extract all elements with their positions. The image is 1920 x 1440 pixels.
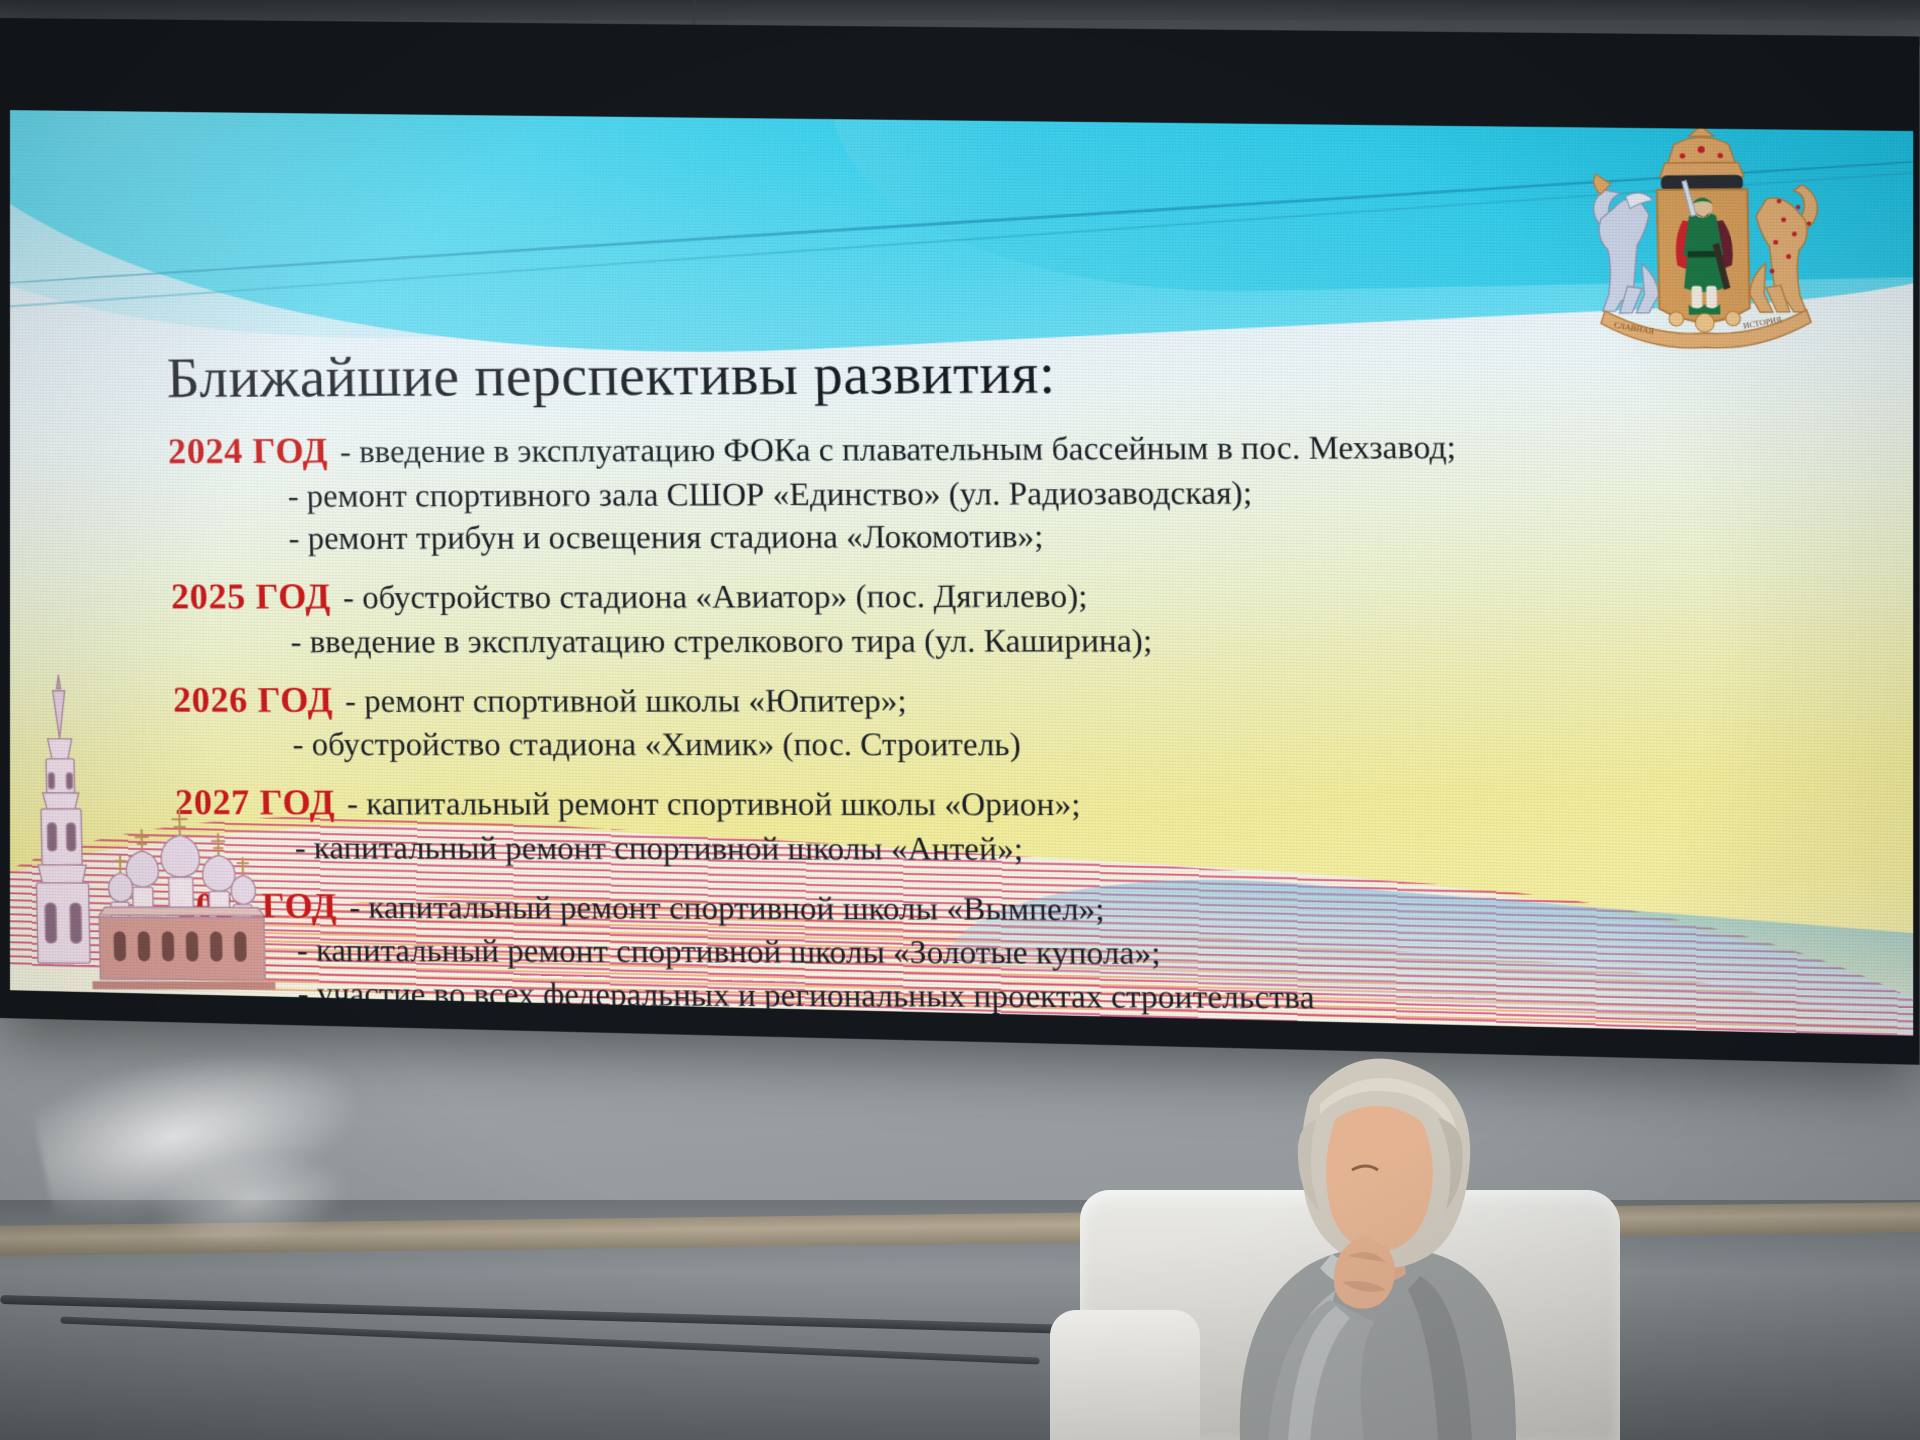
year-text-2026: - ремонт спортивной школы «Юпитер»; bbox=[345, 680, 908, 724]
year-text-2028: - капитальный ремонт спортивной школы «В… bbox=[349, 886, 1105, 931]
seated-person bbox=[1170, 1000, 1590, 1440]
slide-year-row-2026: 2026 ГОД - ремонт спортивной школы «Юпит… bbox=[173, 675, 1610, 724]
led-screen-surface: Ближайшие перспективы развития: 2024 ГОД… bbox=[10, 110, 1913, 1036]
slide-sub-row-2027-1: - капитальный ремонт спортивной школы «А… bbox=[176, 827, 1613, 873]
slide-year-row-2028: 2028 ГОД - капитальный ремонт спортивной… bbox=[177, 882, 1614, 934]
kremlin-church-illustration bbox=[16, 665, 304, 997]
slide-sub-row-2024-2: - ремонт трибун и освещения стадиона «Ло… bbox=[169, 514, 1605, 561]
year-label-2024: 2024 ГОД bbox=[168, 427, 329, 475]
slide-sub-row-2026-1: - обустройство стадиона «Химик» (пос. Ст… bbox=[174, 724, 1611, 768]
slide-sub-row-2024-1: - ремонт спортивного зала СШОР «Единство… bbox=[169, 470, 1605, 518]
year-text-2025: - обустройство стадиона «Авиатор» (пос. … bbox=[343, 576, 1088, 621]
ceiling-beam bbox=[0, 0, 1920, 20]
slide-sub-row-2028-1: - капитальный ремонт спортивной школы «З… bbox=[178, 929, 1615, 977]
slide-content: Ближайшие перспективы развития: 2024 ГОД… bbox=[10, 112, 1913, 1017]
slide-year-row-2024: 2024 ГОД - введение в эксплуатацию ФОКа … bbox=[168, 422, 1604, 476]
slide-body: 2024 ГОД - введение в эксплуатацию ФОКа … bbox=[168, 422, 1617, 1036]
slide-title: Ближайшие перспективы развития: bbox=[166, 341, 1056, 411]
screenshot-root: Ближайшие перспективы развития: 2024 ГОД… bbox=[0, 0, 1920, 1440]
led-screen-frame: Ближайшие перспективы развития: 2024 ГОД… bbox=[0, 18, 1920, 1065]
slide-year-row-2025: 2025 ГОД - обустройство стадиона «Авиато… bbox=[171, 570, 1607, 621]
year-text-2027: - капитальный ремонт спортивной школы «О… bbox=[347, 783, 1081, 827]
coat-of-arms-icon: СЛАВНАЯ ИСТОРИЯ bbox=[1563, 121, 1843, 355]
slide-sub-row-2025-1: - введение в эксплуатацию стрелкового ти… bbox=[172, 619, 1608, 664]
slide-year-row-2027: 2027 ГОД - капитальный ремонт спортивной… bbox=[175, 779, 1612, 829]
year-label-2025: 2025 ГОД bbox=[171, 573, 332, 621]
year-text-2024: - введение в эксплуатацию ФОКа с плавате… bbox=[340, 426, 1457, 474]
